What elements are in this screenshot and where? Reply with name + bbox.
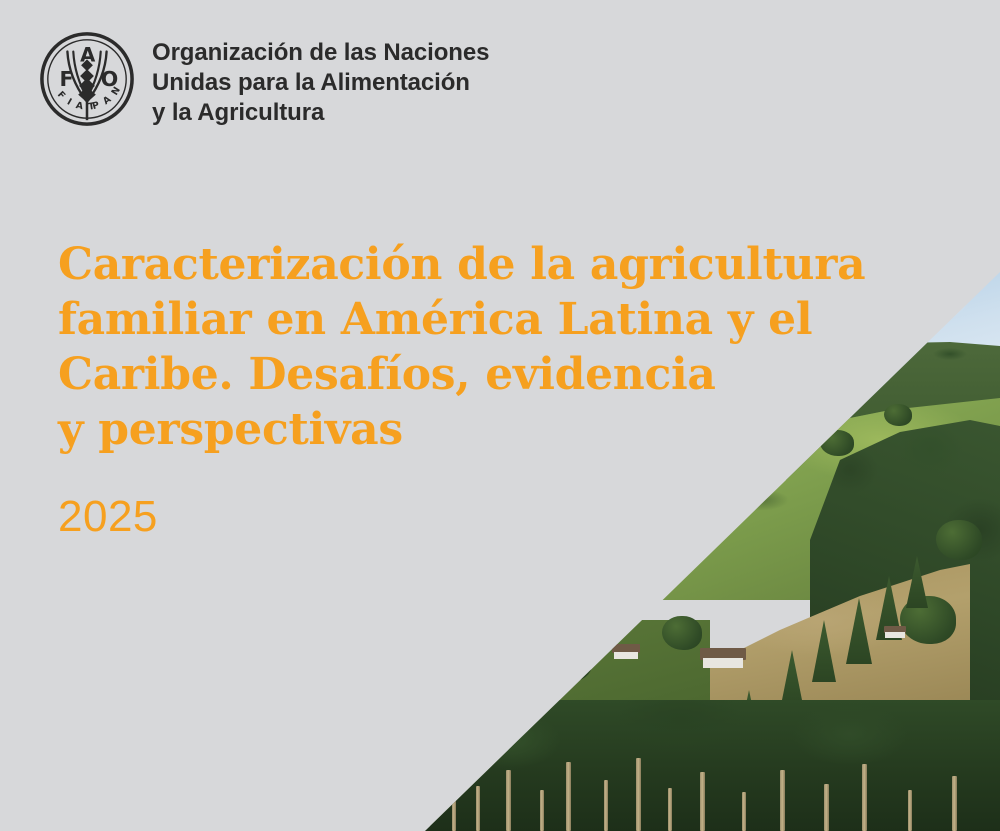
fence-post bbox=[668, 788, 672, 831]
bush bbox=[672, 470, 698, 490]
fence-post bbox=[700, 772, 705, 831]
fao-logo: F A O F I A T P A N I S Organización de … bbox=[38, 30, 489, 128]
fence-post bbox=[540, 790, 544, 831]
fence-post bbox=[604, 780, 608, 831]
bush bbox=[588, 588, 632, 622]
fence-post bbox=[908, 790, 912, 831]
bush bbox=[884, 404, 912, 426]
fence-post bbox=[952, 776, 957, 831]
fence-post bbox=[636, 758, 641, 831]
bush bbox=[712, 496, 732, 511]
bush bbox=[620, 540, 656, 568]
house-wall bbox=[885, 632, 904, 638]
house-wall bbox=[703, 658, 743, 668]
publication-year: 2025 bbox=[58, 492, 158, 542]
fence-post bbox=[506, 770, 511, 831]
bush bbox=[936, 520, 982, 560]
fence-post bbox=[780, 770, 785, 831]
fao-emblem-icon: F A O F I A T P A N I S bbox=[38, 30, 136, 128]
org-line-1: Organización de las Naciones bbox=[152, 38, 489, 68]
farm-house bbox=[884, 626, 906, 638]
org-line-3: y la Agricultura bbox=[152, 98, 489, 128]
fence-post bbox=[476, 786, 480, 831]
fence-post bbox=[566, 762, 571, 831]
fence-post bbox=[824, 784, 829, 831]
fao-publication-cover: F A O F I A T P A N I S Organización de … bbox=[0, 0, 1000, 831]
svg-text:A: A bbox=[80, 43, 96, 66]
bush bbox=[540, 642, 592, 682]
svg-text:F: F bbox=[60, 67, 74, 91]
title-line-3: Caribe. Desafíos, evidencia bbox=[58, 347, 888, 402]
farm-house bbox=[612, 644, 640, 659]
fence-post bbox=[742, 792, 746, 831]
title-line-4: y perspectivas bbox=[58, 402, 888, 457]
cover-title: Caracterización de la agricultura famili… bbox=[58, 237, 888, 457]
title-line-2: familiar en América Latina y el bbox=[58, 292, 888, 347]
org-line-2: Unidas para la Alimentación bbox=[152, 68, 489, 98]
title-line-1: Caracterización de la agricultura bbox=[58, 237, 888, 292]
farm-house bbox=[700, 648, 746, 668]
bush bbox=[662, 616, 702, 650]
fence-post bbox=[862, 764, 867, 831]
fence-post bbox=[452, 800, 456, 831]
house-wall bbox=[614, 652, 639, 660]
organization-name: Organización de las Naciones Unidas para… bbox=[152, 30, 489, 128]
